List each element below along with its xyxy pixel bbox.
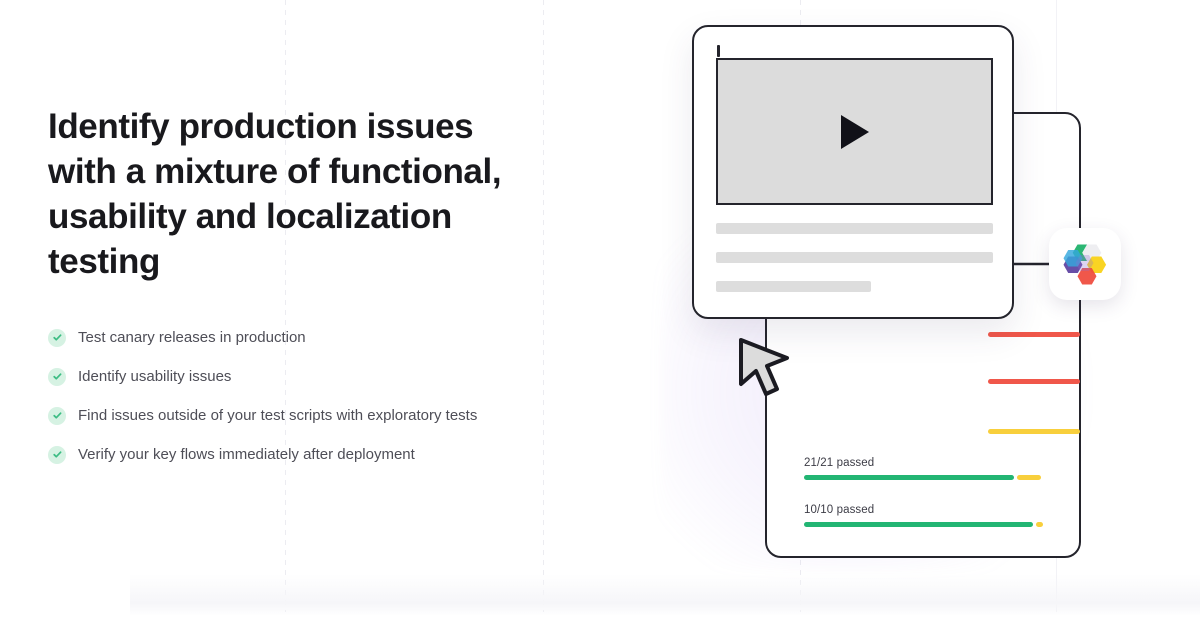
result-bar-yellow-1	[988, 429, 1080, 434]
progress-warn-segment	[1036, 522, 1043, 527]
play-icon[interactable]	[838, 113, 872, 151]
mouse-cursor-icon	[735, 332, 797, 398]
crop-handle-icon	[717, 45, 720, 57]
result-label: 10/10 passed	[804, 504, 1045, 516]
feature-checklist: Test canary releases in production Ident…	[48, 328, 578, 464]
list-item: Identify usability issues	[48, 367, 578, 386]
progress-pass-segment	[804, 475, 1014, 480]
video-placeholder	[716, 58, 993, 205]
list-item: Find issues outside of your test scripts…	[48, 406, 578, 425]
check-circle-icon	[48, 329, 66, 347]
hexagon-logo-badge	[1049, 228, 1121, 300]
product-illustration: 21/21 passed 10/10 passed	[640, 0, 1200, 630]
progress-warn-segment	[1017, 475, 1041, 480]
list-item: Test canary releases in production	[48, 328, 578, 347]
list-item: Verify your key flows immediately after …	[48, 445, 578, 464]
skeleton-line	[716, 252, 993, 263]
skeleton-line	[716, 223, 993, 234]
result-label: 21/21 passed	[804, 457, 1045, 469]
page-canvas: Identify production issues with a mixtur…	[0, 0, 1200, 630]
list-item-label: Verify your key flows immediately after …	[78, 445, 415, 464]
result-bar-red-2	[988, 379, 1080, 384]
result-row: 21/21 passed	[804, 457, 1045, 480]
hexagon-logo-icon	[1063, 240, 1107, 288]
list-item-label: Identify usability issues	[78, 367, 231, 386]
progress-bar	[804, 522, 1045, 527]
check-circle-icon	[48, 407, 66, 425]
video-preview-card	[692, 25, 1014, 319]
result-row: 10/10 passed	[804, 504, 1045, 527]
list-item-label: Find issues outside of your test scripts…	[78, 406, 477, 425]
hero-text-column: Identify production issues with a mixtur…	[48, 104, 578, 464]
list-item-label: Test canary releases in production	[78, 328, 306, 347]
result-bar-red-1	[988, 332, 1080, 337]
check-circle-icon	[48, 368, 66, 386]
progress-bar	[804, 475, 1045, 480]
page-title: Identify production issues with a mixtur…	[48, 104, 578, 284]
check-circle-icon	[48, 446, 66, 464]
progress-pass-segment	[804, 522, 1033, 527]
skeleton-line	[716, 281, 871, 292]
